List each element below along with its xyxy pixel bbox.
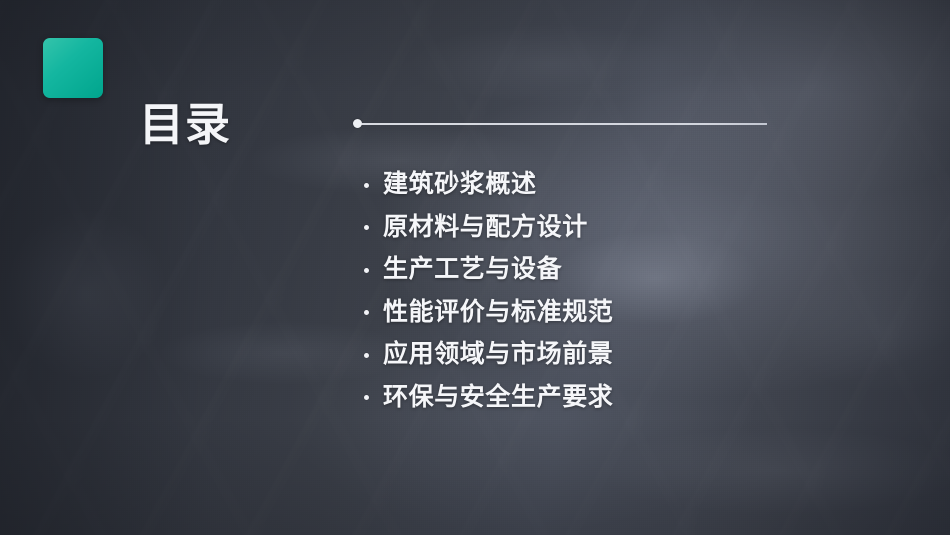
list-item[interactable]: 生产工艺与设备 [364,248,784,291]
list-item[interactable]: 应用领域与市场前景 [364,333,784,376]
toc-item-label: 建筑砂浆概述 [383,169,537,199]
bullet-dot-icon [364,310,369,315]
toc-item-label: 生产工艺与设备 [383,254,562,284]
table-of-contents-list: 建筑砂浆概述 原材料与配方设计 生产工艺与设备 性能评价与标准规范 应用领域与市… [364,163,784,418]
title-divider-rule [353,119,767,128]
toc-item-label: 原材料与配方设计 [383,212,588,242]
list-item[interactable]: 原材料与配方设计 [364,206,784,249]
divider-line [361,123,767,125]
list-item[interactable]: 环保与安全生产要求 [364,376,784,419]
presentation-slide: 目录 建筑砂浆概述 原材料与配方设计 生产工艺与设备 性能评价与标准规范 应用领… [0,0,950,535]
bullet-dot-icon [364,268,369,273]
toc-item-label: 应用领域与市场前景 [383,339,613,369]
bullet-dot-icon [364,395,369,400]
page-title: 目录 [139,99,231,151]
toc-item-label: 环保与安全生产要求 [383,382,613,412]
bullet-dot-icon [364,225,369,230]
accent-square-decoration [43,38,103,98]
list-item[interactable]: 性能评价与标准规范 [364,291,784,334]
list-item[interactable]: 建筑砂浆概述 [364,163,784,206]
toc-item-label: 性能评价与标准规范 [383,297,613,327]
bullet-dot-icon [364,353,369,358]
bullet-dot-icon [364,183,369,188]
